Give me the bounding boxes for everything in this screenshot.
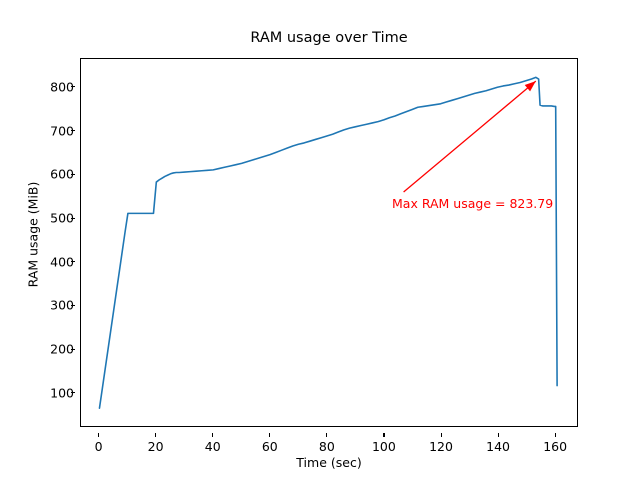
x-tick-mark — [155, 433, 156, 437]
x-tick-mark — [498, 433, 499, 437]
x-tick-mark — [441, 433, 442, 437]
y-tick-mark — [71, 218, 75, 219]
x-tick-label: 160 — [525, 439, 585, 454]
x-tick-label: 80 — [297, 439, 357, 454]
x-tick-label: 40 — [183, 439, 243, 454]
x-tick-label: 60 — [240, 439, 300, 454]
x-tick-label: 140 — [468, 439, 528, 454]
annotation-label: Max RAM usage = 823.79 — [392, 196, 553, 211]
x-tick-label: 0 — [69, 439, 129, 454]
y-tick-label: 600 — [32, 167, 74, 182]
y-tick-mark — [71, 392, 75, 393]
y-tick-label: 100 — [32, 385, 74, 400]
data-series-line — [99, 77, 557, 408]
y-tick-label: 400 — [32, 254, 74, 269]
plot-svg — [81, 59, 577, 426]
x-tick-mark — [98, 433, 99, 437]
y-tick-mark — [71, 261, 75, 262]
y-tick-label: 300 — [32, 298, 74, 313]
y-tick-label: 700 — [32, 123, 74, 138]
y-tick-mark — [71, 86, 75, 87]
x-tick-mark — [383, 433, 384, 437]
x-tick-label: 120 — [411, 439, 471, 454]
y-axis-tick-labels: 100200300400500600700800 — [26, 58, 74, 427]
y-tick-mark — [71, 305, 75, 306]
annotation-arrow — [404, 81, 536, 192]
x-axis-tick-labels: 020406080100120140160 — [80, 433, 578, 453]
x-tick-label: 100 — [354, 439, 414, 454]
y-tick-label: 800 — [32, 79, 74, 94]
y-tick-mark — [71, 349, 75, 350]
x-tick-mark — [212, 433, 213, 437]
plot-area — [80, 58, 578, 427]
x-tick-mark — [269, 433, 270, 437]
y-tick-label: 200 — [32, 342, 74, 357]
chart-title: RAM usage over Time — [80, 30, 578, 46]
x-tick-mark — [555, 433, 556, 437]
y-tick-mark — [71, 174, 75, 175]
chart-figure: RAM usage over Time RAM usage (MiB) Time… — [0, 0, 640, 480]
x-axis-label: Time (sec) — [80, 455, 578, 470]
x-tick-label: 20 — [126, 439, 186, 454]
y-tick-label: 500 — [32, 211, 74, 226]
x-tick-mark — [326, 433, 327, 437]
y-tick-mark — [71, 130, 75, 131]
